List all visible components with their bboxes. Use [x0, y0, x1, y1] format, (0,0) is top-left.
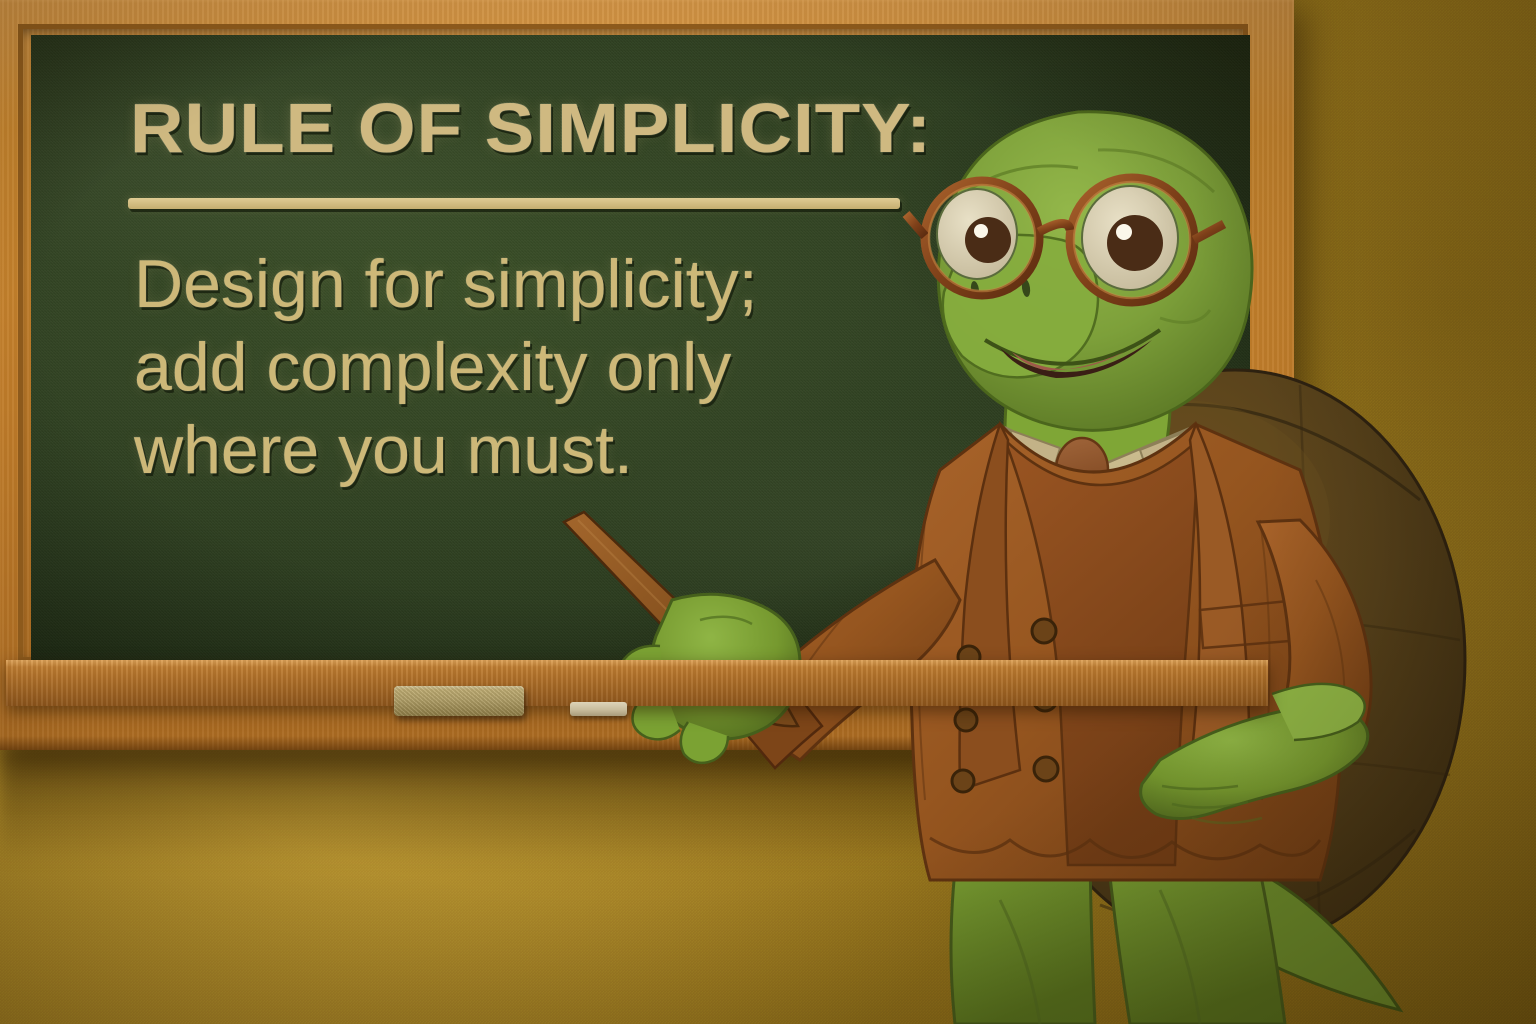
- tray-wood-grain: [6, 660, 1268, 706]
- eraser-texture: [394, 686, 524, 716]
- right-eye: [1082, 186, 1178, 290]
- jacket-button: [955, 709, 977, 731]
- chalk-eraser[interactable]: [394, 686, 524, 716]
- jacket: [911, 424, 1341, 880]
- vest-button: [1034, 757, 1058, 781]
- chalk-stick[interactable]: [570, 702, 627, 716]
- turtle-professor: [0, 0, 1536, 1024]
- left-eye: [937, 189, 1017, 279]
- chalk-tray: [6, 660, 1268, 706]
- chalkboard-scene: RULE OF SIMPLICITY: Design for simplicit…: [0, 0, 1536, 1024]
- vest-button: [1032, 619, 1056, 643]
- jacket-button: [952, 770, 974, 792]
- turtle-head: [906, 112, 1252, 431]
